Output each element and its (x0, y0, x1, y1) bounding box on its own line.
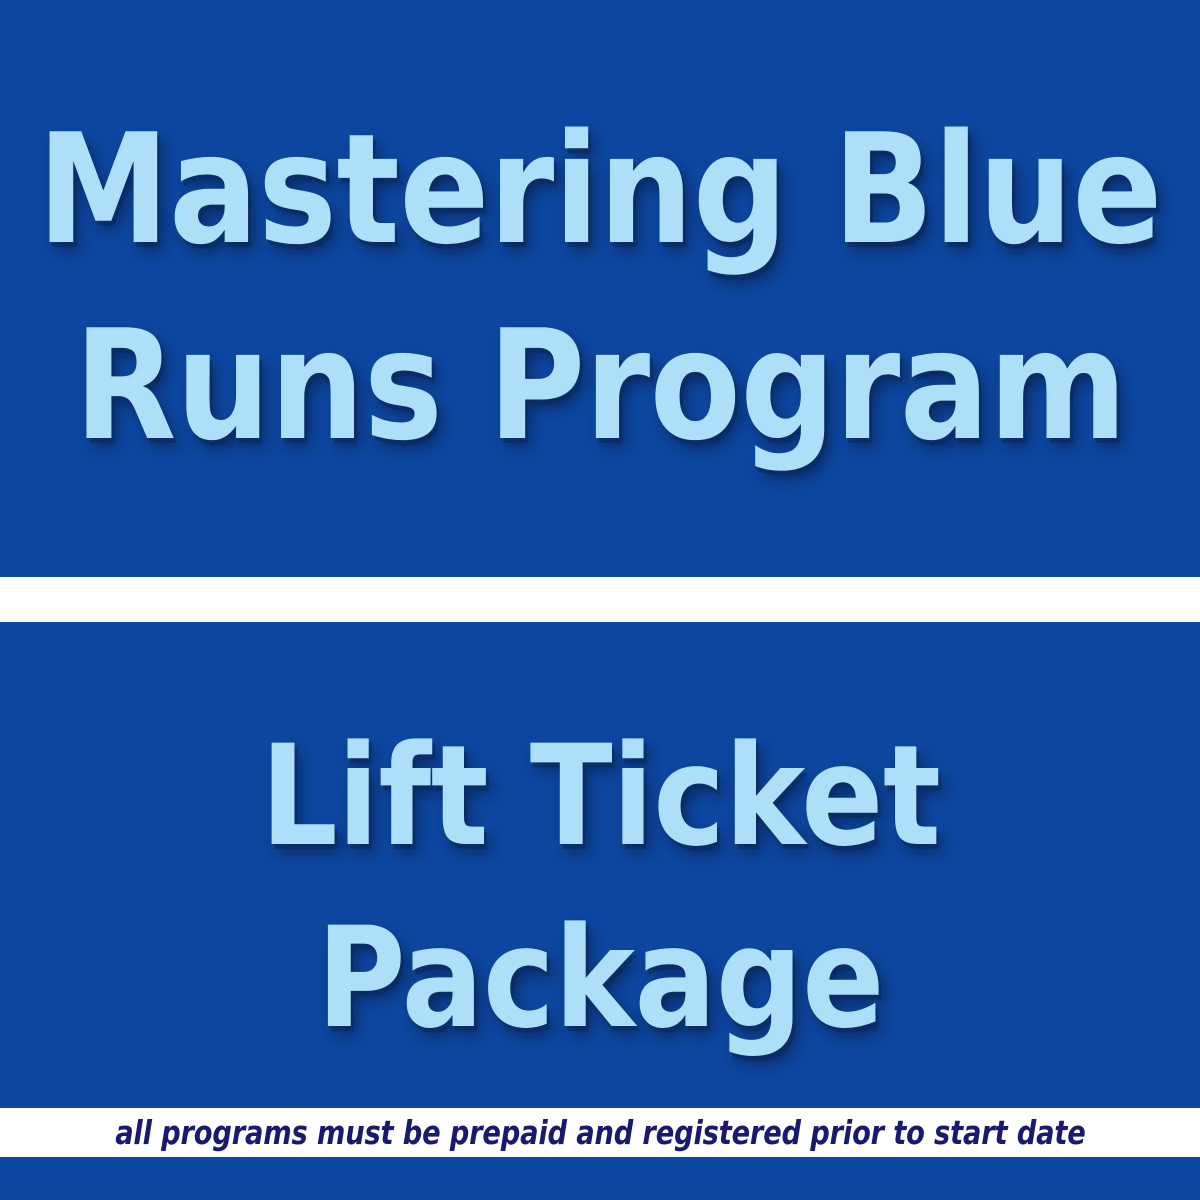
package-title-panel: Lift Ticket Package (0, 622, 1200, 1108)
panel-divider (0, 577, 1200, 622)
program-title-line-2: Runs Program (74, 314, 1126, 458)
promo-poster: Mastering Blue Runs Program Lift Ticket … (0, 0, 1200, 1200)
program-title-line-1: Mastering Blue (38, 118, 1163, 262)
footer-note-text: all programs must be prepaid and registe… (115, 1113, 1085, 1152)
program-title-panel: Mastering Blue Runs Program (0, 0, 1200, 577)
footer-note-strip: all programs must be prepaid and registe… (0, 1108, 1200, 1157)
package-title-line-2: Package (316, 912, 883, 1044)
bottom-color-band (0, 1157, 1200, 1200)
package-title-line-1: Lift Ticket (260, 730, 940, 862)
